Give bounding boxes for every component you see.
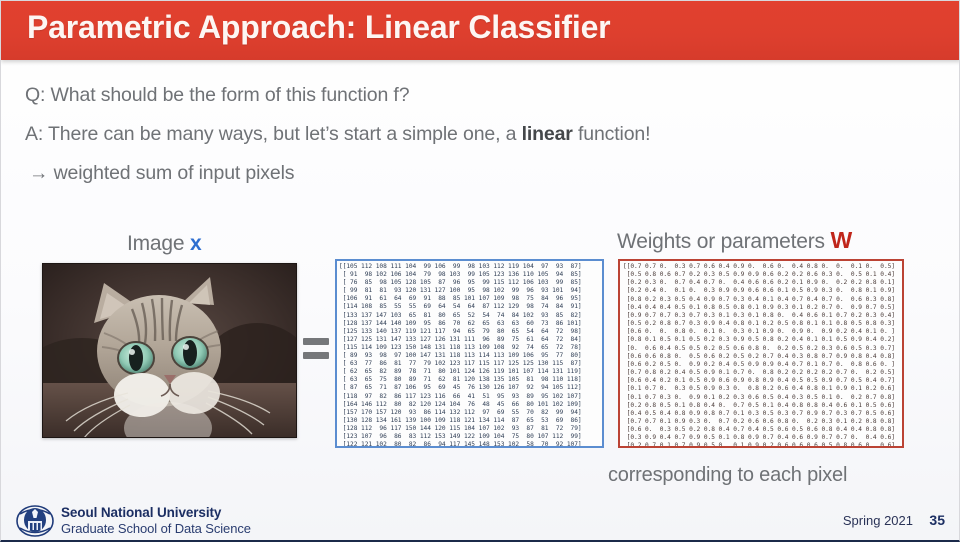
matrix-row: [ 63 65 75 80 89 71 62 81 120 138 135 10…	[339, 376, 600, 384]
answer-line: A: There can be many ways, but let’s sta…	[25, 123, 650, 146]
matrix-row: [0.8 0.1 0.5 0.1 0.5 0.2 0.3 0.9 0.5 0.8…	[623, 336, 900, 344]
matrix-row: [0.6 0. 0. 0.8 0. 0.1 0. 0.3 0.1 0.9 0. …	[623, 328, 900, 336]
page-number: 35	[929, 512, 945, 528]
matrix-row: [0.2 0.7 0.1 0.7 0.9 0.5 0. 0.1 0.9 0.2 …	[623, 442, 900, 448]
footer-term: Spring 2021	[843, 513, 913, 528]
matrix-row: [0. 0.6 0.4 0.5 0.5 0.2 0.5 0.6 0.8 0. 0…	[623, 345, 900, 353]
matrix-row: [0.8 0.2 0.3 0.5 0.4 0.9 0.7 0.3 0.4 0.1…	[623, 296, 900, 304]
matrix-row: [164 146 112 80 82 120 124 104 76 48 45 …	[339, 401, 600, 409]
cat-photo	[42, 263, 297, 438]
matrix-row: [0.3 0.9 0.4 0.7 0.9 0.5 0.1 0.8 0.9 0.7…	[623, 434, 900, 442]
matrix-row: [130 128 134 161 139 100 109 118 121 134…	[339, 417, 600, 425]
matrix-row: [133 137 147 103 65 81 80 65 52 54 74 84…	[339, 312, 600, 320]
matrix-row: [0.4 0.4 0.4 0.5 0.1 0.8 0.5 0.8 0.1 0.9…	[623, 304, 900, 312]
matrix-row: [ 91 98 102 106 104 79 98 103 99 105 123…	[339, 271, 600, 279]
matrix-row: [0.5 0.2 0.8 0.7 0.3 0.9 0.4 0.8 0.1 0.2…	[623, 320, 900, 328]
slide-title-bar: Parametric Approach: Linear Classifier	[1, 1, 960, 60]
matrix-row: [[105 112 108 111 104 99 106 99 98 103 1…	[339, 263, 600, 271]
matrix-row: [157 170 157 120 93 86 114 132 112 97 69…	[339, 409, 600, 417]
matrix-row: [ 89 93 98 97 100 147 131 118 113 114 11…	[339, 352, 600, 360]
image-caption-text: Image	[127, 232, 184, 255]
image-variable-x: x	[190, 232, 201, 255]
matrix-row: [0.2 0.4 0. 0.1 0. 0.3 0.9 0.9 0.6 0.6 0…	[623, 287, 900, 295]
weights-matrix: [[0.7 0.7 0. 0.3 0.7 0.6 0.4 0.9 0. 0.6 …	[618, 259, 904, 448]
matrix-row: [[0.7 0.7 0. 0.3 0.7 0.6 0.4 0.9 0. 0.6 …	[623, 263, 900, 271]
matrix-row: [ 62 65 82 89 78 71 80 101 124 126 119 1…	[339, 368, 600, 376]
matrix-row: [ 99 81 81 93 120 131 127 100 95 98 102 …	[339, 287, 600, 295]
matrix-row: [128 112 96 117 150 144 120 115 104 107 …	[339, 425, 600, 433]
matrix-row: [128 137 144 140 109 95 86 70 62 65 63 6…	[339, 320, 600, 328]
matrix-row: [ 76 85 98 105 128 105 87 96 95 99 115 1…	[339, 279, 600, 287]
matrix-row: [0.2 0.8 0.5 0.1 0.8 0.4 0. 0.7 0.5 0.1 …	[623, 402, 900, 410]
weights-caption-text: Weights or parameters	[617, 230, 825, 253]
matrix-row: [0.4 0.5 0.4 0.8 0.9 0.8 0.7 0.1 0.3 0.5…	[623, 410, 900, 418]
matrix-row: [123 107 96 86 83 112 153 149 122 109 10…	[339, 433, 600, 441]
matrix-row: [114 108 85 55 55 69 64 54 64 87 112 129…	[339, 303, 600, 311]
image-caption: Image x	[127, 232, 202, 256]
matrix-row: [127 125 131 147 133 127 126 131 111 96 …	[339, 336, 600, 344]
weights-caption: Weights or parameters W	[617, 227, 852, 254]
matrix-row: [0.1 0.7 0.3 0. 0.9 0.1 0.2 0.3 0.6 0.5 …	[623, 394, 900, 402]
answer-text-bold: linear	[522, 123, 573, 145]
matrix-row: [106 91 61 64 69 91 88 85 101 107 109 98…	[339, 295, 600, 303]
matrix-row: [ 87 65 71 87 106 95 69 45 76 130 126 10…	[339, 384, 600, 392]
matrix-row: [0.6 0.2 0.5 0. 0.9 0.2 0.4 0.5 0.9 0.9 …	[623, 361, 900, 369]
matrix-row: [0.9 0.7 0.7 0.3 0.7 0.3 0.1 0.3 0.1 0.8…	[623, 312, 900, 320]
university-logo-icon	[15, 504, 55, 538]
answer-text-post: function!	[573, 123, 651, 145]
matrix-row: [0.1 0.7 0. 0.3 0.5 0.9 0.3 0. 0.8 0.2 0…	[623, 385, 900, 393]
matrix-row: [0.7 0.8 0.2 0.4 0.5 0.9 0.1 0.7 0. 0.8 …	[623, 369, 900, 377]
corresponding-caption: corresponding to each pixel	[608, 464, 847, 487]
matrix-row: [0.7 0.7 0.1 0.9 0.3 0. 0.7 0.2 0.6 0.6 …	[623, 418, 900, 426]
equals-sign	[303, 338, 329, 360]
weights-variable-w: W	[830, 227, 852, 253]
answer-text-pre: A: There can be many ways, but let’s sta…	[25, 123, 522, 145]
matrix-row: [0.5 0.8 0.6 0.7 0.2 0.3 0.5 0.9 0.9 0.6…	[623, 271, 900, 279]
footer-department: Graduate School of Data Science	[61, 521, 251, 536]
matrix-row: [122 121 102 80 82 86 94 117 145 148 153…	[339, 441, 600, 448]
matrix-row: [ 63 77 86 81 77 79 102 123 117 115 117 …	[339, 360, 600, 368]
footer-institution: Seoul National University	[61, 505, 221, 520]
cat-photo-graphic	[42, 263, 297, 438]
page-title: Parametric Approach: Linear Classifier	[27, 9, 610, 46]
slide-canvas: Parametric Approach: Linear Classifier Q…	[0, 0, 960, 542]
matrix-row: [0.6 0.4 0.2 0.1 0.5 0.9 0.6 0.9 0.8 0.9…	[623, 377, 900, 385]
arrow-line: → weighted sum of input pixels	[29, 162, 294, 185]
matrix-row: [115 114 109 123 150 148 131 118 113 109…	[339, 344, 600, 352]
matrix-row: [125 133 140 137 119 121 117 94 65 79 80…	[339, 328, 600, 336]
matrix-row: [0.2 0.3 0. 0.7 0.4 0.7 0. 0.4 0.6 0.6 0…	[623, 279, 900, 287]
matrix-row: [0.6 0. 0.3 0.5 0.2 0.8 0.4 0.7 0.4 0.5 …	[623, 426, 900, 434]
image-pixel-matrix: [[105 112 108 111 104 99 106 99 98 103 1…	[335, 259, 604, 448]
matrix-row: [118 97 82 86 117 123 116 66 41 51 95 93…	[339, 393, 600, 401]
question-line: Q: What should be the form of this funct…	[25, 84, 409, 107]
matrix-row: [0.6 0.6 0.8 0. 0.5 0.6 0.2 0.5 0.2 0.7 …	[623, 353, 900, 361]
